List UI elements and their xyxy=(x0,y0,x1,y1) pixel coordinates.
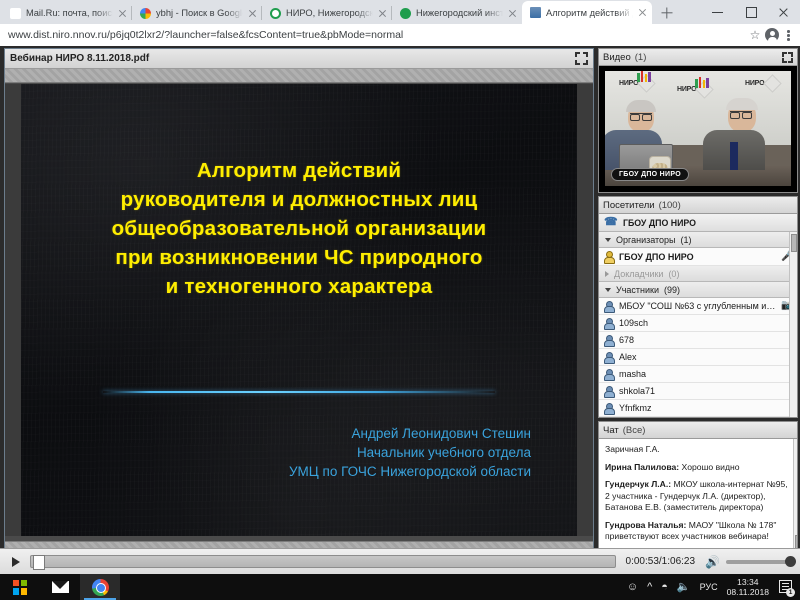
volume-knob[interactable] xyxy=(785,556,796,567)
scrollbar-thumb[interactable] xyxy=(795,535,797,549)
attendees-pod-header: Посетители (100) xyxy=(599,197,797,214)
attendees-pod-title: Посетители xyxy=(603,200,655,211)
lock-user-icon xyxy=(603,251,614,262)
play-button[interactable] xyxy=(6,553,24,571)
presenter-tie xyxy=(730,142,738,170)
attendee-name: Alex xyxy=(619,352,637,362)
tab-close-icon[interactable] xyxy=(638,8,648,18)
seek-handle[interactable] xyxy=(33,555,45,570)
attendees-pod: Посетители (100) ☎ ГБОУ ДПО НИРО Организ… xyxy=(598,196,798,418)
chat-author: Гундрова Наталья: xyxy=(605,520,686,530)
wifi-icon[interactable]: ◓ xyxy=(661,582,668,593)
chevron-right-icon[interactable] xyxy=(605,271,609,277)
tray-clock[interactable]: 13:34 08.11.2018 xyxy=(727,577,769,597)
expand-icon[interactable] xyxy=(575,52,588,65)
attendee-host-row[interactable]: ☎ ГБОУ ДПО НИРО xyxy=(599,214,797,232)
tab-label: ybhj - Поиск в Google xyxy=(156,7,243,19)
slide-author-name: Андрей Леонидович Стешин xyxy=(289,424,531,443)
browser-tab-3[interactable]: НИРО, Нижегородский xyxy=(262,2,392,24)
video-pod: Видео (1) НИРО xyxy=(598,48,798,193)
video-pod-count: (1) xyxy=(635,52,647,63)
expand-icon[interactable] xyxy=(782,52,793,63)
video-feed[interactable]: НИРО НИРО xyxy=(605,71,791,186)
taskbar-items xyxy=(0,574,120,600)
list-item: Гундерчук Л.А.: МКОУ школа-интернат №95,… xyxy=(605,479,791,514)
webinar-icon xyxy=(530,7,541,18)
slide-title: Алгоритм действий руководителя и должнос… xyxy=(21,156,577,301)
taskbar-item-chrome[interactable] xyxy=(80,574,120,600)
attendee-group-presenters[interactable]: Докладчики (0) xyxy=(599,266,797,282)
attendee-group-hosts[interactable]: Организаторы (1) xyxy=(599,232,797,248)
tab-label: Нижегородский институ xyxy=(416,7,503,19)
attendee-name: 678 xyxy=(619,335,634,345)
video-pod-title: Видео xyxy=(603,52,631,63)
seek-slider[interactable] xyxy=(30,555,616,568)
chrome-menu-icon[interactable] xyxy=(781,27,795,43)
slide-title-line-3: общеобразовательной организации xyxy=(33,214,565,243)
green-circle-icon xyxy=(400,8,411,19)
attendees-count: (100) xyxy=(659,200,681,211)
system-tray: ☺ ^ ◓ 🔈 РУС 13:34 08.11.2018 1 xyxy=(627,577,800,597)
user-icon xyxy=(603,318,614,329)
group-count: (0) xyxy=(668,269,679,279)
list-item[interactable]: 109sch xyxy=(599,315,797,332)
niro-icon xyxy=(270,8,281,19)
mail-icon xyxy=(52,581,69,593)
phone-icon: ☎ xyxy=(604,217,617,228)
tray-language[interactable]: РУС xyxy=(700,582,718,592)
niro-wall-logo-1: НИРО xyxy=(619,77,653,90)
tab-label: НИРО, Нижегородский xyxy=(286,7,373,19)
window-controls xyxy=(701,0,800,24)
presenter-head xyxy=(628,102,654,132)
user-icon xyxy=(603,403,614,414)
volume-slider[interactable] xyxy=(726,560,794,564)
tray-date: 08.11.2018 xyxy=(727,587,769,597)
webinar-page: Вебинар НИРО 8.11.2018.pdf Алгоритм дейс… xyxy=(0,46,800,574)
video-pod-body: НИРО НИРО xyxy=(599,66,797,192)
chat-messages[interactable]: Заричная Г.А. Ирина Палилова: Хорошо вид… xyxy=(599,439,797,551)
presenter-hair xyxy=(726,98,758,110)
niro-bars-icon xyxy=(637,71,651,82)
slide-author-role: Начальник учебного отдела xyxy=(289,443,531,462)
video-pod-header: Видео (1) xyxy=(599,49,797,66)
browser-tab-2[interactable]: ybhj - Поиск в Google xyxy=(132,2,262,24)
store-icon xyxy=(13,580,27,595)
omnibox-icons: ☆ xyxy=(747,27,800,43)
chat-pod: Чат (Все) Заричная Г.А. Ирина Палилова: … xyxy=(598,421,798,552)
group-label: Организаторы xyxy=(616,235,676,245)
presenter-head xyxy=(728,100,756,132)
list-item[interactable]: МБОУ "СОШ №63 с углубленным изуч... 📷 xyxy=(599,298,797,315)
presenter-hair xyxy=(626,100,656,112)
attendees-list[interactable]: Организаторы (1) ГБОУ ДПО НИРО 🎤 Докладч… xyxy=(599,232,797,417)
list-item[interactable]: Yfnfkmz xyxy=(599,400,797,417)
url-text[interactable]: www.dist.niro.nnov.ru/p6jq0t2lxr2/?launc… xyxy=(0,29,747,41)
close-button[interactable] xyxy=(767,0,800,24)
list-item[interactable]: 678 xyxy=(599,332,797,349)
niro-logo-text: НИРО xyxy=(745,80,764,87)
taskbar-item-mail[interactable] xyxy=(40,574,80,600)
niro-bars-icon xyxy=(695,77,709,88)
chat-author: Ирина Палилова: xyxy=(605,462,679,472)
playback-time: 0:00:53/1:06:23 xyxy=(622,556,700,567)
niro-logo-text: НИРО xyxy=(619,80,638,87)
bookmark-star-icon[interactable]: ☆ xyxy=(747,27,763,43)
notifications-icon[interactable]: 1 xyxy=(778,579,794,595)
omnibox[interactable]: www.dist.niro.nnov.ru/p6jq0t2lxr2/?launc… xyxy=(0,24,800,46)
browser-chrome: Mail.Ru: почта, поиск в и ybhj - Поиск в… xyxy=(0,0,800,46)
group-count: (99) xyxy=(664,285,680,295)
player-controls: 0:00:53/1:06:23 🔊 xyxy=(0,548,800,574)
taskbar-item-store[interactable] xyxy=(0,574,40,600)
user-icon xyxy=(603,386,614,397)
presenter-right xyxy=(719,100,765,170)
niro-wall-logo-3: НИРО xyxy=(745,77,779,90)
new-tab-button[interactable] xyxy=(656,2,678,24)
mailru-icon xyxy=(10,8,21,19)
list-item[interactable]: ГБОУ ДПО НИРО 🎤 xyxy=(599,248,797,266)
chrome-icon xyxy=(92,579,109,596)
chevron-down-icon[interactable] xyxy=(605,288,611,292)
chat-scrollbar[interactable] xyxy=(793,439,797,551)
slide-title-line-2: руководителя и должностных лиц xyxy=(33,185,565,214)
niro-wall-logo-2: НИРО xyxy=(677,83,711,96)
windows-taskbar: ☺ ^ ◓ 🔈 РУС 13:34 08.11.2018 1 xyxy=(0,574,800,600)
viewer-title-text: Вебинар НИРО 8.11.2018.pdf xyxy=(10,53,149,64)
slide-author-block: Андрей Леонидович Стешин Начальник учебн… xyxy=(289,424,531,481)
chat-scope: (Все) xyxy=(623,425,646,436)
slide-viewer-pod: Вебинар НИРО 8.11.2018.pdf Алгоритм дейс… xyxy=(4,48,594,570)
user-icon xyxy=(603,335,614,346)
slide-canvas: Алгоритм действий руководителя и должнос… xyxy=(21,84,577,536)
minimize-button[interactable] xyxy=(701,0,734,24)
attendee-name: 109sch xyxy=(619,318,648,328)
right-column: Видео (1) НИРО xyxy=(598,48,798,570)
attendee-name: ГБОУ ДПО НИРО xyxy=(619,252,694,262)
chevron-down-icon[interactable] xyxy=(605,238,611,242)
list-item: Заричная Г.А. xyxy=(605,444,791,456)
scrollbar-thumb[interactable] xyxy=(791,234,797,252)
tray-time: 13:34 xyxy=(727,577,769,587)
presenter-jacket xyxy=(703,130,765,170)
chat-pod-title: Чат xyxy=(603,425,619,436)
list-item: Ирина Палилова: Хорошо видно xyxy=(605,462,791,474)
people-share-icon[interactable]: ☺ xyxy=(627,582,638,593)
google-icon xyxy=(140,8,151,19)
group-label: Докладчики xyxy=(614,269,663,279)
attendee-host-name: ГБОУ ДПО НИРО xyxy=(623,218,696,228)
tab-close-icon[interactable] xyxy=(378,8,388,18)
user-icon xyxy=(603,352,614,363)
tab-close-icon[interactable] xyxy=(248,8,258,18)
chat-text: Хорошо видно xyxy=(679,462,739,472)
viewer-toolbar-strip xyxy=(5,69,593,83)
group-label: Участники xyxy=(616,285,659,295)
tab-strip: Mail.Ru: почта, поиск в и ybhj - Поиск в… xyxy=(0,0,800,24)
list-item[interactable]: Alex xyxy=(599,349,797,366)
glasses-icon xyxy=(730,111,752,116)
niro-logo-text: НИРО xyxy=(677,86,696,93)
slide-title-line-4: при возникновении ЧС природного xyxy=(33,243,565,272)
browser-tab-1[interactable]: Mail.Ru: почта, поиск в и xyxy=(2,2,132,24)
tab-label: Алгоритм действий долж xyxy=(546,7,633,19)
group-count: (1) xyxy=(681,235,692,245)
tab-close-icon[interactable] xyxy=(508,8,518,18)
show-hidden-icons-chevron-icon[interactable]: ^ xyxy=(647,582,652,593)
slide-title-line-1: Алгоритм действий xyxy=(33,156,565,185)
list-item[interactable]: shkola71 xyxy=(599,383,797,400)
slide-divider-line xyxy=(103,391,495,393)
volume-icon[interactable]: 🔊 xyxy=(705,555,720,569)
user-icon xyxy=(603,301,614,312)
viewer-titlebar: Вебинар НИРО 8.11.2018.pdf xyxy=(5,49,593,69)
attendee-name: shkola71 xyxy=(619,386,655,396)
notification-badge: 1 xyxy=(786,588,795,597)
niro-diamond-icon xyxy=(764,74,782,92)
slide-title-line-5: и техногенного характера xyxy=(33,272,565,301)
chat-text: Заричная Г.А. xyxy=(605,444,660,454)
speaker-icon[interactable]: 🔈 xyxy=(677,582,691,593)
attendee-name: masha xyxy=(619,369,646,379)
screen: Mail.Ru: почта, поиск в и ybhj - Поиск в… xyxy=(0,0,800,600)
list-item: Гундрова Наталья: МАОУ "Школа № 178" при… xyxy=(605,520,791,543)
slide-area: Алгоритм действий руководителя и должнос… xyxy=(5,84,593,536)
chat-pod-header: Чат (Все) xyxy=(599,422,797,439)
attendee-name: МБОУ "СОШ №63 с углубленным изуч... xyxy=(619,301,776,311)
maximize-button[interactable] xyxy=(734,0,767,24)
attendee-name: Yfnfkmz xyxy=(619,403,652,413)
tab-label: Mail.Ru: почта, поиск в и xyxy=(26,7,113,19)
video-caption-badge: ГБОУ ДПО НИРО xyxy=(611,168,689,181)
browser-tab-5-active[interactable]: Алгоритм действий долж xyxy=(522,1,652,24)
user-icon xyxy=(603,369,614,380)
browser-tab-4[interactable]: Нижегородский институ xyxy=(392,2,522,24)
slide-author-org: УМЦ по ГОЧС Нижегородской области xyxy=(289,462,531,481)
profile-avatar-icon[interactable] xyxy=(765,28,779,42)
attendees-scrollbar[interactable] xyxy=(789,232,797,417)
list-item[interactable]: masha xyxy=(599,366,797,383)
attendee-group-participants[interactable]: Участники (99) xyxy=(599,282,797,298)
chat-author: Гундерчук Л.А.: xyxy=(605,479,671,489)
glasses-icon xyxy=(630,113,652,118)
tab-close-icon[interactable] xyxy=(118,8,128,18)
